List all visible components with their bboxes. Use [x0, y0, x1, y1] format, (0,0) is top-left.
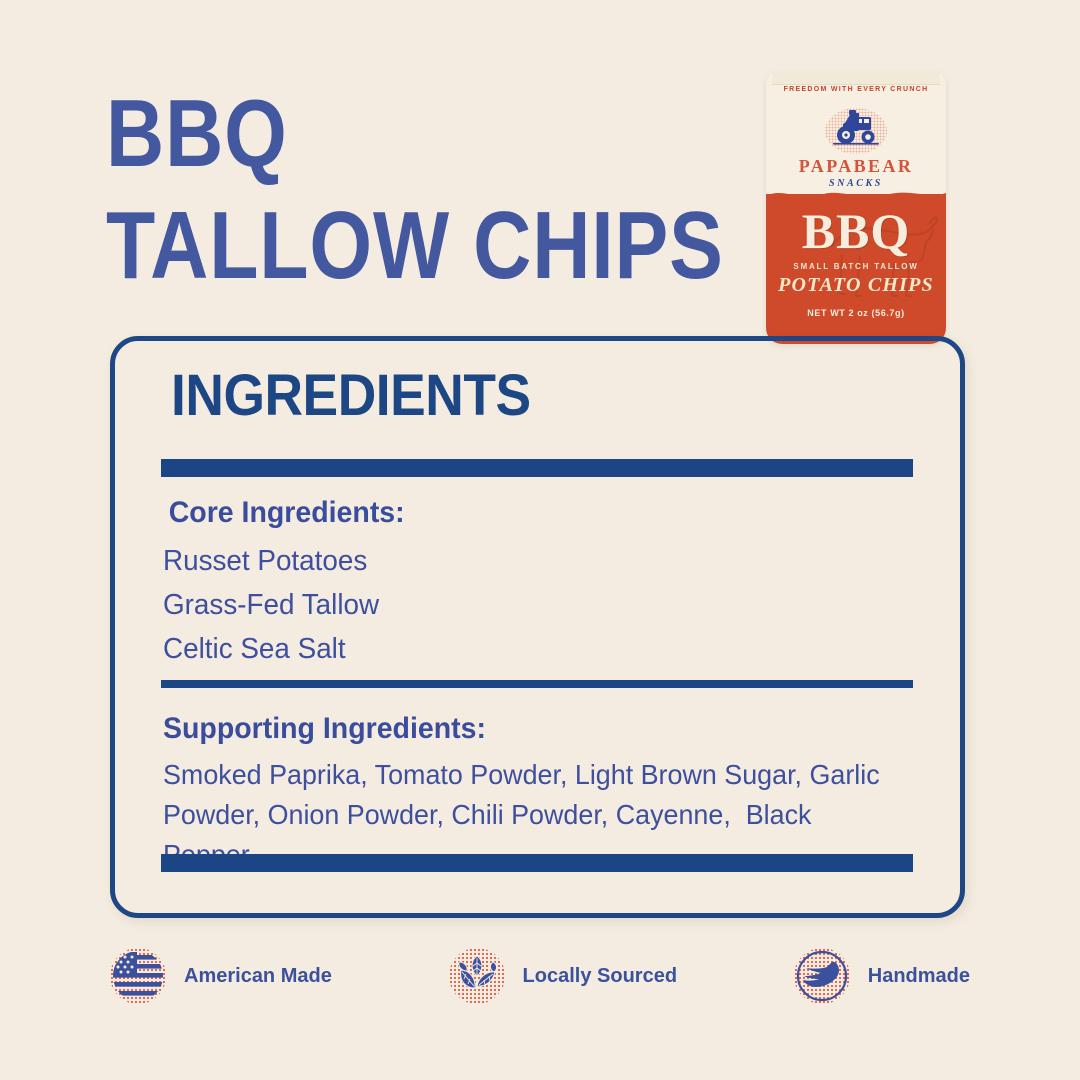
divider-middle [161, 680, 913, 688]
divider-top [161, 459, 913, 477]
core-ingredients-section: Core Ingredients: Russet Potatoes Grass-… [163, 493, 923, 671]
title-line-1: BBQ [106, 78, 644, 190]
hand-icon [794, 948, 850, 1004]
tractor-icon [825, 105, 887, 149]
supporting-ingredients-section: Supporting Ingredients: Smoked Paprika, … [163, 709, 933, 875]
divider-bottom [161, 854, 913, 872]
badge-label: American Made [184, 965, 332, 988]
flag-icon [110, 948, 166, 1004]
bag-brand-name: PAPABEAR [766, 156, 946, 177]
flag-glyph [110, 948, 166, 1004]
product-bag-image: FREEDOM WITH EVERY CRUNCH [766, 72, 946, 344]
hand-glyph [794, 948, 850, 1004]
leaves-glyph [449, 948, 505, 1004]
bag-product-type: POTATO CHIPS [766, 274, 946, 297]
ingredient-item: Grass-Fed Tallow [163, 583, 893, 627]
bag-body: FREEDOM WITH EVERY CRUNCH [766, 72, 946, 344]
bag-descriptor: SMALL BATCH TALLOW [766, 262, 946, 271]
page-title: BBQ TALLOW CHIPS [106, 78, 746, 302]
bag-top-seal [772, 72, 940, 85]
trust-badges: American Made [0, 948, 1080, 1004]
ingredient-item: Russet Potatoes [163, 539, 893, 583]
bag-flavor-name: BBQ [766, 204, 946, 258]
badge-label: Locally Sourced [523, 965, 678, 988]
card-heading: INGREDIENTS [171, 365, 531, 427]
supporting-ingredients-heading: Supporting Ingredients: [163, 709, 895, 749]
product-ingredients-graphic: BBQ TALLOW CHIPS FREEDOM WITH EVERY CRUN… [0, 0, 1080, 1080]
bag-tagline: FREEDOM WITH EVERY CRUNCH [766, 86, 946, 93]
leaves-icon [449, 948, 505, 1004]
badge-american-made: American Made [110, 948, 332, 1004]
title-line-2: TALLOW CHIPS [106, 190, 644, 302]
ingredient-item: Celtic Sea Salt [163, 627, 893, 671]
ingredients-card: INGREDIENTS Core Ingredients: Russet Pot… [110, 336, 965, 918]
badge-label: Handmade [868, 965, 970, 988]
badge-handmade: Handmade [794, 948, 970, 1004]
core-ingredients-heading: Core Ingredients: [163, 493, 885, 533]
badge-locally-sourced: Locally Sourced [449, 948, 678, 1004]
bag-net-weight: NET WT 2 oz (56.7g) [766, 308, 946, 318]
